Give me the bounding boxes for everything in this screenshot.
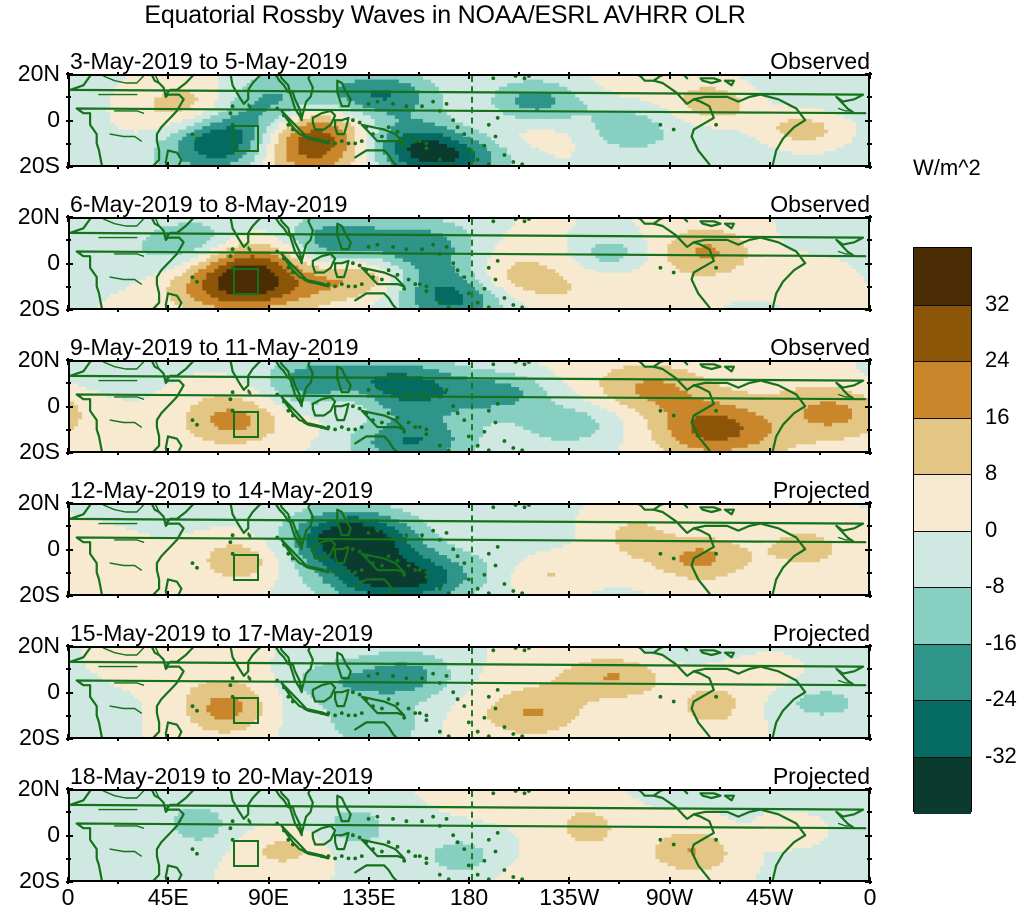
panel-header: 6-May-2019 to 8-May-2019Observed [68, 191, 870, 215]
x-tick-major [468, 644, 470, 651]
panel-date-range: 6-May-2019 to 8-May-2019 [70, 191, 347, 218]
y-tick-major [66, 263, 73, 265]
x-tick-minor [318, 501, 320, 505]
y-axis-label-20N: 20N [18, 60, 60, 87]
map-plot-area [68, 503, 870, 596]
colorbar-tick-32: 32 [985, 291, 1009, 317]
x-tick-major [769, 501, 771, 508]
x-tick-major [167, 358, 169, 365]
y-axis-label-0: 0 [47, 821, 60, 848]
dateline-marker [471, 648, 473, 737]
x-axis-label-5: 135W [539, 884, 599, 911]
map-plot-area [68, 217, 870, 310]
x-tick-minor [217, 215, 219, 219]
y-tick-major [865, 692, 872, 694]
x-tick-major [368, 644, 370, 651]
x-tick-minor [318, 358, 320, 362]
x-tick-major [268, 734, 270, 741]
x-tick-minor [318, 72, 320, 76]
x-tick-minor [719, 501, 721, 505]
map-panel-3: 9-May-2019 to 11-May-2019Observed20N020S [68, 360, 870, 453]
x-tick-minor [819, 72, 821, 76]
x-tick-minor [217, 787, 219, 791]
y-tick-minor [867, 715, 872, 717]
panel-header: 9-May-2019 to 11-May-2019Observed [68, 334, 870, 358]
study-region-box [233, 125, 259, 152]
x-tick-major [167, 305, 169, 312]
x-tick-minor [318, 451, 320, 455]
y-tick-minor [66, 429, 71, 431]
x-tick-minor [819, 737, 821, 741]
x-tick-minor [618, 451, 620, 455]
x-tick-major [167, 215, 169, 222]
olr-anomaly-field [70, 505, 870, 596]
x-tick-major [669, 644, 671, 651]
x-tick-minor [719, 737, 721, 741]
x-tick-major [368, 877, 370, 884]
y-tick-minor [867, 143, 872, 145]
study-region-box [233, 554, 259, 581]
panel-date-range: 15-May-2019 to 17-May-2019 [70, 620, 373, 647]
x-tick-minor [518, 72, 520, 76]
x-tick-minor [318, 787, 320, 791]
x-tick-minor [618, 308, 620, 312]
x-axis-label-2: 90E [248, 884, 289, 911]
x-tick-minor [618, 72, 620, 76]
x-tick-major [669, 215, 671, 222]
x-tick-minor [217, 644, 219, 648]
x-tick-minor [217, 501, 219, 505]
x-tick-major [468, 448, 470, 455]
x-tick-major [167, 162, 169, 169]
x-tick-minor [418, 451, 420, 455]
x-tick-major [468, 162, 470, 169]
olr-anomaly-field [70, 219, 870, 310]
y-tick-major [66, 166, 73, 168]
panel-date-range: 12-May-2019 to 14-May-2019 [70, 477, 373, 504]
y-tick-major [865, 549, 872, 551]
x-tick-major [268, 358, 270, 365]
map-panel-5: 15-May-2019 to 17-May-2019Projected20N02… [68, 646, 870, 739]
x-tick-major [368, 734, 370, 741]
x-tick-minor [719, 787, 721, 791]
y-tick-minor [867, 858, 872, 860]
x-tick-major [669, 787, 671, 794]
y-tick-minor [867, 668, 872, 670]
x-tick-major [568, 72, 570, 79]
y-axis-label-20S: 20S [19, 438, 60, 465]
colorbar-tick--32: -32 [985, 743, 1017, 769]
x-tick-major [268, 215, 270, 222]
x-tick-minor [819, 787, 821, 791]
y-axis-label-0: 0 [47, 106, 60, 133]
y-axis-label-20S: 20S [19, 581, 60, 608]
x-tick-major [468, 305, 470, 312]
x-tick-minor [318, 308, 320, 312]
x-tick-minor [618, 787, 620, 791]
x-tick-major [769, 591, 771, 598]
y-tick-minor [66, 96, 71, 98]
x-tick-minor [418, 165, 420, 169]
x-tick-minor [518, 308, 520, 312]
y-tick-major [865, 309, 872, 311]
x-tick-major [167, 448, 169, 455]
colorbar-band-8 [914, 700, 971, 758]
x-tick-major [769, 358, 771, 365]
x-tick-major [568, 734, 570, 741]
x-axis-label-1: 45E [148, 884, 189, 911]
x-tick-minor [618, 165, 620, 169]
panel-date-range: 9-May-2019 to 11-May-2019 [70, 334, 359, 361]
panel-status-label: Observed [770, 48, 870, 75]
y-axis-label-0: 0 [47, 249, 60, 276]
y-tick-major [66, 835, 73, 837]
x-tick-minor [117, 787, 119, 791]
x-tick-major [769, 162, 771, 169]
colorbar-band-9 [914, 757, 971, 815]
map-plot-area [68, 74, 870, 167]
x-tick-minor [117, 451, 119, 455]
x-tick-major [669, 358, 671, 365]
x-tick-major [568, 162, 570, 169]
y-tick-major [66, 645, 73, 647]
colorbar-band-6 [914, 587, 971, 645]
x-tick-minor [618, 501, 620, 505]
y-tick-minor [867, 811, 872, 813]
y-axis-label-20S: 20S [19, 295, 60, 322]
y-axis-label-20S: 20S [19, 724, 60, 751]
map-panel-1: 3-May-2019 to 5-May-2019Observed20N020S [68, 74, 870, 167]
x-tick-minor [418, 737, 420, 741]
x-tick-minor [117, 215, 119, 219]
x-tick-minor [518, 737, 520, 741]
panel-status-label: Projected [773, 477, 870, 504]
x-tick-major [568, 305, 570, 312]
map-panel-4: 12-May-2019 to 14-May-2019Projected20N02… [68, 503, 870, 596]
x-tick-minor [819, 644, 821, 648]
panel-status-label: Projected [773, 620, 870, 647]
x-tick-major [769, 215, 771, 222]
x-tick-minor [217, 308, 219, 312]
panel-date-range: 18-May-2019 to 20-May-2019 [70, 763, 373, 790]
x-tick-major [167, 72, 169, 79]
x-tick-minor [418, 501, 420, 505]
x-axis: 045E90E135E180135W90W45W0 [68, 884, 870, 918]
study-region-box [233, 411, 259, 438]
x-tick-minor [318, 165, 320, 169]
x-axis-label-6: 90W [646, 884, 693, 911]
y-axis-label-20N: 20N [18, 489, 60, 516]
y-tick-major [66, 881, 73, 883]
y-tick-minor [66, 715, 71, 717]
x-tick-major [368, 215, 370, 222]
dateline-marker [471, 505, 473, 594]
x-tick-minor [618, 215, 620, 219]
y-tick-minor [867, 382, 872, 384]
y-tick-minor [867, 429, 872, 431]
x-tick-major [769, 448, 771, 455]
x-tick-major [769, 877, 771, 884]
y-axis-label-0: 0 [47, 678, 60, 705]
x-tick-minor [819, 451, 821, 455]
colorbar-band-4 [914, 474, 971, 532]
panel-header: 12-May-2019 to 14-May-2019Projected [68, 477, 870, 501]
x-tick-major [669, 72, 671, 79]
x-tick-minor [719, 451, 721, 455]
y-tick-major [865, 359, 872, 361]
y-axis-label-20S: 20S [19, 152, 60, 179]
x-tick-minor [117, 501, 119, 505]
panel-status-label: Projected [773, 763, 870, 790]
x-tick-minor [217, 165, 219, 169]
y-axis-label-0: 0 [47, 392, 60, 419]
x-tick-minor [318, 594, 320, 598]
x-tick-major [368, 591, 370, 598]
x-tick-major [769, 787, 771, 794]
dateline-marker [471, 791, 473, 880]
x-tick-major [669, 877, 671, 884]
x-tick-minor [318, 737, 320, 741]
x-tick-minor [217, 358, 219, 362]
x-axis-label-7: 45W [746, 884, 793, 911]
x-tick-major [769, 72, 771, 79]
x-tick-minor [618, 594, 620, 598]
x-tick-minor [719, 644, 721, 648]
x-tick-major [368, 501, 370, 508]
x-tick-major [268, 448, 270, 455]
olr-anomaly-field [70, 791, 870, 882]
y-tick-major [865, 166, 872, 168]
x-tick-minor [318, 644, 320, 648]
x-tick-major [669, 734, 671, 741]
panel-header: 3-May-2019 to 5-May-2019Observed [68, 48, 870, 72]
x-tick-major [268, 644, 270, 651]
x-tick-major [368, 448, 370, 455]
y-tick-major [66, 309, 73, 311]
y-axis-label-0: 0 [47, 535, 60, 562]
y-tick-minor [66, 239, 71, 241]
study-region-box [233, 697, 259, 724]
y-tick-major [66, 73, 73, 75]
map-plot-area [68, 789, 870, 882]
x-tick-major [669, 448, 671, 455]
x-tick-minor [819, 308, 821, 312]
x-tick-major [769, 644, 771, 651]
x-tick-minor [518, 358, 520, 362]
x-tick-major [167, 877, 169, 884]
x-tick-major [268, 72, 270, 79]
x-tick-major [669, 591, 671, 598]
colorbar-band-5 [914, 531, 971, 589]
y-tick-major [865, 73, 872, 75]
x-tick-major [568, 358, 570, 365]
colorbar-units-label: W/m^2 [913, 155, 973, 181]
colorbar-tick-8: 8 [985, 460, 997, 486]
x-tick-major [468, 877, 470, 884]
y-tick-major [865, 263, 872, 265]
x-tick-minor [117, 594, 119, 598]
x-axis-label-0: 0 [62, 884, 75, 911]
x-tick-major [468, 591, 470, 598]
y-tick-minor [66, 286, 71, 288]
x-tick-minor [518, 594, 520, 598]
x-tick-minor [217, 594, 219, 598]
x-tick-minor [819, 358, 821, 362]
x-tick-minor [418, 787, 420, 791]
x-tick-major [769, 734, 771, 741]
x-tick-major [568, 644, 570, 651]
colorbar-band-0 [914, 248, 971, 305]
y-axis-label-20N: 20N [18, 775, 60, 802]
x-axis-label-8: 0 [864, 884, 877, 911]
x-tick-major [568, 215, 570, 222]
x-tick-minor [518, 451, 520, 455]
x-tick-major [468, 72, 470, 79]
x-tick-major [468, 501, 470, 508]
colorbar-band-1 [914, 305, 971, 363]
y-tick-major [865, 835, 872, 837]
x-tick-major [769, 305, 771, 312]
x-tick-major [167, 644, 169, 651]
y-tick-major [865, 502, 872, 504]
colorbar-tick-0: 0 [985, 517, 997, 543]
x-tick-minor [518, 165, 520, 169]
y-tick-minor [867, 286, 872, 288]
x-tick-major [669, 305, 671, 312]
x-tick-major [167, 591, 169, 598]
x-tick-minor [819, 215, 821, 219]
x-tick-major [167, 501, 169, 508]
x-tick-major [669, 501, 671, 508]
y-tick-major [865, 645, 872, 647]
colorbar-tick--8: -8 [985, 573, 1005, 599]
y-tick-major [865, 120, 872, 122]
olr-anomaly-field [70, 362, 870, 453]
x-tick-major [568, 448, 570, 455]
dateline-marker [471, 76, 473, 165]
x-tick-minor [418, 644, 420, 648]
x-tick-major [468, 787, 470, 794]
map-panel-2: 6-May-2019 to 8-May-2019Observed20N020S [68, 217, 870, 310]
x-tick-major [468, 734, 470, 741]
y-axis-label-20N: 20N [18, 346, 60, 373]
x-tick-major [268, 591, 270, 598]
x-tick-major [268, 305, 270, 312]
y-tick-major [865, 738, 872, 740]
x-tick-minor [518, 501, 520, 505]
x-tick-minor [719, 215, 721, 219]
y-axis-label-20S: 20S [19, 867, 60, 894]
x-tick-major [268, 501, 270, 508]
x-tick-minor [719, 72, 721, 76]
x-tick-minor [719, 308, 721, 312]
x-tick-minor [418, 72, 420, 76]
y-tick-minor [66, 382, 71, 384]
y-tick-minor [867, 525, 872, 527]
y-tick-major [66, 359, 73, 361]
x-tick-minor [418, 308, 420, 312]
panel-header: 18-May-2019 to 20-May-2019Projected [68, 763, 870, 787]
x-tick-minor [618, 644, 620, 648]
map-plot-area [68, 360, 870, 453]
y-tick-minor [867, 239, 872, 241]
x-tick-major [368, 358, 370, 365]
y-tick-major [66, 788, 73, 790]
x-tick-minor [418, 215, 420, 219]
y-tick-major [66, 738, 73, 740]
x-tick-minor [618, 358, 620, 362]
y-tick-minor [66, 143, 71, 145]
y-tick-major [66, 120, 73, 122]
x-tick-minor [217, 451, 219, 455]
x-tick-minor [418, 358, 420, 362]
y-tick-major [66, 406, 73, 408]
olr-anomaly-field [70, 76, 870, 167]
x-axis-label-4: 180 [450, 884, 488, 911]
x-tick-major [268, 787, 270, 794]
x-tick-major [568, 591, 570, 598]
x-tick-major [368, 305, 370, 312]
y-tick-major [66, 502, 73, 504]
colorbar-band-3 [914, 418, 971, 476]
x-tick-major [368, 72, 370, 79]
y-tick-major [865, 595, 872, 597]
x-tick-major [268, 877, 270, 884]
colorbar-tick--24: -24 [985, 686, 1017, 712]
x-tick-minor [117, 358, 119, 362]
colorbar-band-7 [914, 644, 971, 702]
x-tick-minor [117, 72, 119, 76]
x-tick-minor [117, 165, 119, 169]
x-tick-minor [518, 787, 520, 791]
panel-header: 15-May-2019 to 17-May-2019Projected [68, 620, 870, 644]
x-tick-minor [117, 737, 119, 741]
x-tick-minor [618, 737, 620, 741]
study-region-box [233, 268, 259, 295]
x-tick-minor [719, 165, 721, 169]
x-tick-major [568, 877, 570, 884]
x-tick-minor [117, 644, 119, 648]
y-axis-label-20N: 20N [18, 203, 60, 230]
y-tick-major [865, 216, 872, 218]
x-tick-major [167, 734, 169, 741]
x-tick-major [268, 162, 270, 169]
x-tick-minor [819, 594, 821, 598]
x-tick-major [368, 787, 370, 794]
y-tick-major [66, 692, 73, 694]
y-tick-minor [66, 811, 71, 813]
y-tick-major [66, 452, 73, 454]
x-tick-major [368, 162, 370, 169]
y-tick-major [865, 881, 872, 883]
colorbar [913, 247, 972, 812]
y-tick-minor [66, 858, 71, 860]
y-axis-label-20N: 20N [18, 632, 60, 659]
y-tick-major [66, 216, 73, 218]
panel-status-label: Observed [770, 191, 870, 218]
figure-title: Equatorial Rossby Waves in NOAA/ESRL AVH… [0, 1, 890, 30]
colorbar-tick-16: 16 [985, 404, 1009, 430]
x-tick-minor [217, 737, 219, 741]
y-tick-minor [66, 525, 71, 527]
study-region-box [233, 840, 259, 867]
x-tick-minor [217, 72, 219, 76]
x-axis-label-3: 135E [342, 884, 396, 911]
colorbar-tick-24: 24 [985, 347, 1009, 373]
x-tick-minor [318, 215, 320, 219]
panel-status-label: Observed [770, 334, 870, 361]
colorbar-tick--16: -16 [985, 630, 1017, 656]
